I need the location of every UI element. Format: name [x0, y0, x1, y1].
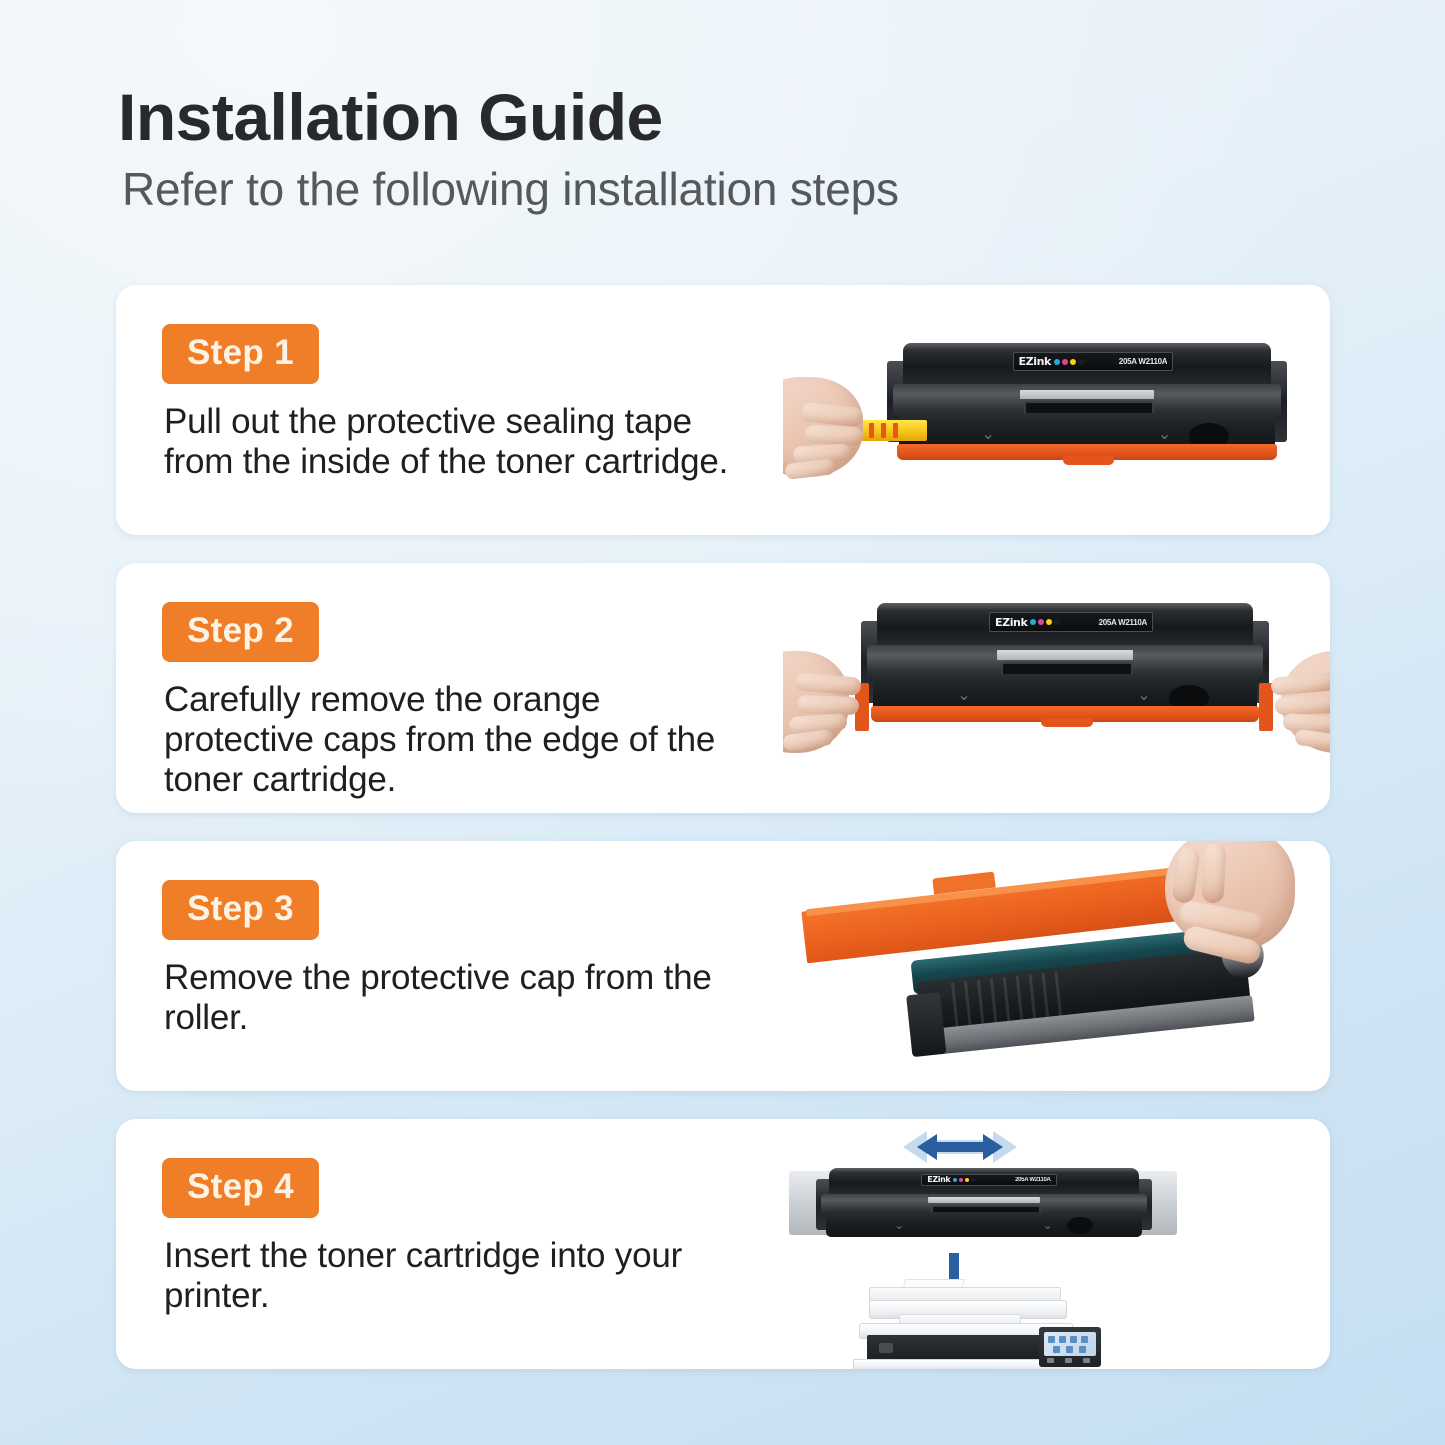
printer — [851, 1285, 1103, 1369]
cartridge-code: 205A W2110A — [1087, 357, 1167, 366]
installation-guide-page: Installation Guide Refer to the followin… — [0, 0, 1445, 1445]
step-2-description: Carefully remove the orange protective c… — [164, 680, 757, 800]
cmyk-dots-icon — [1030, 619, 1060, 625]
step-1-illustration: EZink 205A W2110A ⌄ ⌄ — [783, 285, 1330, 535]
step-3-description: Remove the protective cap from the rolle… — [164, 958, 757, 1038]
cartridge-brand: EZink — [927, 1175, 950, 1184]
step-card-3: Step 3 Remove the protective cap from th… — [116, 841, 1330, 1091]
toner-cartridge: EZink 205A W2110A ⌄ ⌄ — [865, 595, 1265, 727]
cartridge-brand: EZink — [995, 616, 1027, 629]
steps-list: Step 1 Pull out the protective sealing t… — [116, 285, 1330, 1369]
cartridge-code: 205A W2110A — [1063, 618, 1147, 627]
step-card-4: Step 4 Insert the toner cartridge into y… — [116, 1119, 1330, 1369]
cmyk-dots-icon — [953, 1178, 975, 1182]
orange-protective-cap-right — [1259, 683, 1273, 731]
cartridge-brand: EZink — [1019, 355, 1051, 368]
cartridge-label: EZink 205A W2110A — [1013, 352, 1174, 372]
step-1-description: Pull out the protective sealing tape fro… — [164, 402, 757, 482]
page-subtitle: Refer to the following installation step… — [122, 165, 1218, 213]
step-card-1: Step 1 Pull out the protective sealing t… — [116, 285, 1330, 535]
toner-cartridge: EZink 205A W2110A ⌄ ⌄ — [819, 1163, 1149, 1245]
step-3-badge: Step 3 — [162, 880, 319, 940]
step-card-2: Step 2 Carefully remove the orange prote… — [116, 563, 1330, 813]
sealing-tape — [855, 420, 927, 441]
step-4-text-panel: Step 4 Insert the toner cartridge into y… — [116, 1119, 783, 1369]
step-4-illustration: EZink 205A W2110A ⌄ ⌄ — [783, 1119, 1330, 1369]
step-4-badge: Step 4 — [162, 1158, 319, 1218]
horizontal-double-arrow-icon — [901, 1127, 1019, 1167]
step-2-illustration: EZink 205A W2110A ⌄ ⌄ — [783, 563, 1330, 813]
step-3-text-panel: Step 3 Remove the protective cap from th… — [116, 841, 783, 1091]
printer-touchscreen[interactable] — [1044, 1332, 1096, 1356]
cartridge-code: 205A W2110A — [978, 1177, 1050, 1183]
page-title: Installation Guide — [118, 84, 1218, 151]
step-3-illustration — [783, 841, 1330, 1091]
step-4-description: Insert the toner cartridge into your pri… — [164, 1236, 757, 1316]
cartridge-label: EZink 205A W2110A — [989, 612, 1153, 632]
step-2-text-panel: Step 2 Carefully remove the orange prote… — [116, 563, 783, 813]
cmyk-dots-icon — [1054, 359, 1084, 365]
page-header: Installation Guide Refer to the followin… — [118, 84, 1218, 214]
printer-control-panel[interactable] — [1039, 1327, 1101, 1367]
step-2-badge: Step 2 — [162, 602, 319, 662]
toner-cartridge: EZink 205A W2110A ⌄ ⌄ — [891, 335, 1283, 465]
step-1-badge: Step 1 — [162, 324, 319, 384]
step-1-text-panel: Step 1 Pull out the protective sealing t… — [116, 285, 783, 535]
cartridge-label: EZink 205A W2110A — [921, 1174, 1056, 1186]
